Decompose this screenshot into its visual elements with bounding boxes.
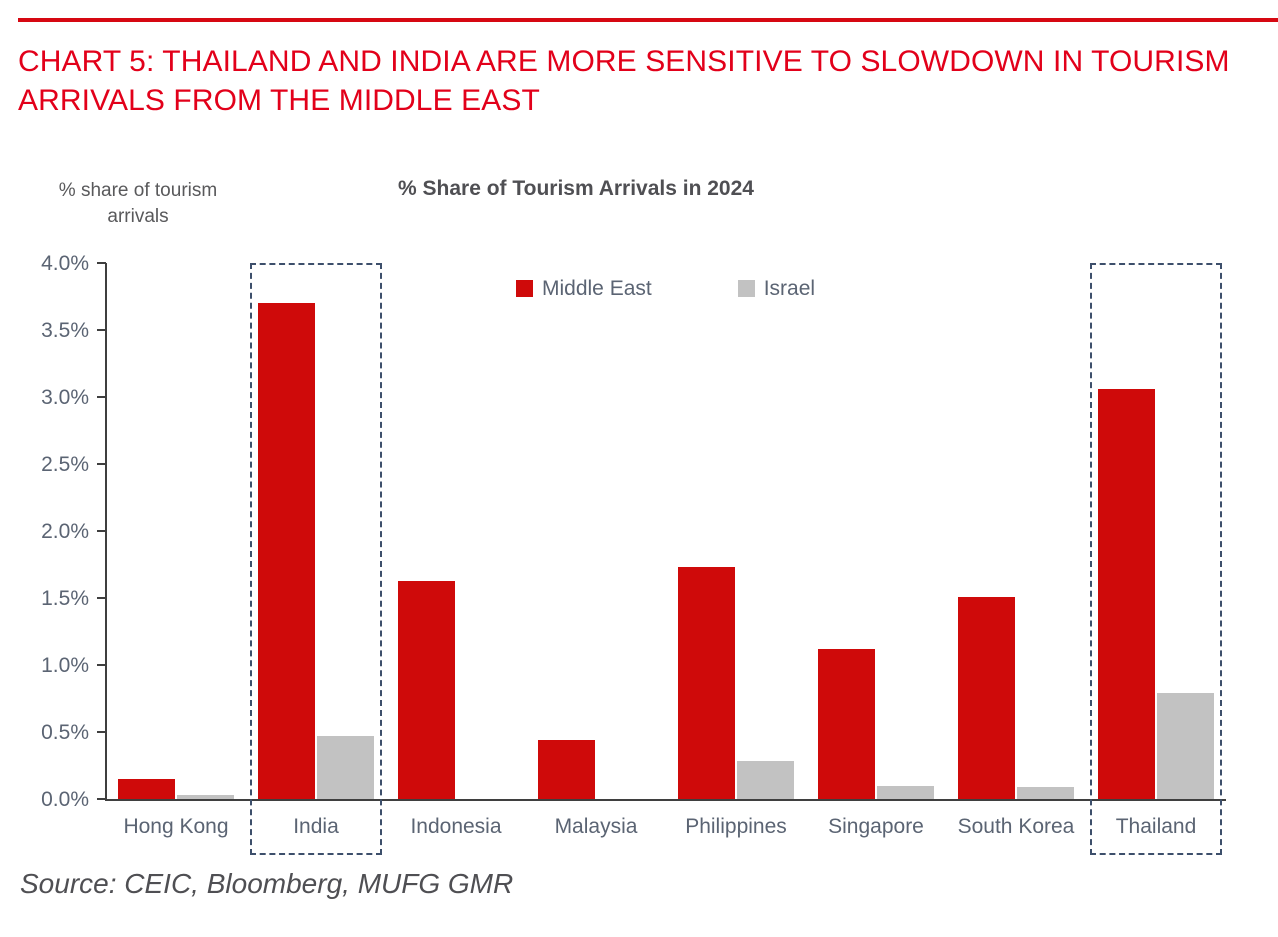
bar-indonesia-middle-east[interactable] (398, 581, 455, 799)
x-axis-label-india: India (246, 815, 386, 839)
y-axis-tick-label: 2.5% (3, 454, 89, 475)
y-axis-tick-label: 1.0% (3, 655, 89, 676)
y-axis-tick-label: 0.0% (3, 789, 89, 810)
x-axis-label-indonesia: Indonesia (386, 815, 526, 839)
chart-title: % Share of Tourism Arrivals in 2024 (398, 177, 754, 201)
chart-page: CHART 5: THAILAND AND INDIA ARE MORE SEN… (0, 0, 1278, 937)
x-axis-line (105, 799, 1226, 801)
y-axis-tick (97, 530, 106, 532)
y-axis-tick-label: 3.0% (3, 387, 89, 408)
y-axis-tick-label: 1.5% (3, 588, 89, 609)
bar-india-middle-east[interactable] (258, 303, 315, 799)
x-axis-label-philippines: Philippines (666, 815, 806, 839)
legend-label-middle-east: Middle East (542, 278, 652, 299)
legend-item-israel[interactable]: Israel (738, 278, 815, 299)
y-axis-tick (97, 597, 106, 599)
legend-swatch-israel (738, 280, 755, 297)
x-axis-label-malaysia: Malaysia (526, 815, 666, 839)
bar-hong-kong-middle-east[interactable] (118, 779, 175, 799)
y-axis-tick (97, 731, 106, 733)
bar-malaysia-middle-east[interactable] (538, 740, 595, 799)
legend-label-israel: Israel (764, 278, 815, 299)
y-axis-tick (97, 463, 106, 465)
y-axis-tick-label: 3.5% (3, 320, 89, 341)
y-axis-line (105, 263, 107, 801)
bar-south-korea-israel[interactable] (1017, 787, 1074, 799)
bar-philippines-middle-east[interactable] (678, 567, 735, 799)
chart-legend: Middle East Israel (516, 278, 815, 299)
y-axis-tick (97, 262, 106, 264)
page-title: CHART 5: THAILAND AND INDIA ARE MORE SEN… (18, 42, 1233, 120)
legend-swatch-middle-east (516, 280, 533, 297)
y-axis-tick-label: 4.0% (3, 253, 89, 274)
bar-thailand-middle-east[interactable] (1098, 389, 1155, 799)
legend-item-middle-east[interactable]: Middle East (516, 278, 652, 299)
y-axis-unit-label: % share of tourism arrivals (30, 178, 246, 230)
bar-south-korea-middle-east[interactable] (958, 597, 1015, 799)
y-axis-tick (97, 664, 106, 666)
bar-hong-kong-israel[interactable] (177, 795, 234, 799)
y-axis-tick (97, 329, 106, 331)
x-axis-label-south-korea: South Korea (946, 815, 1086, 839)
y-axis-tick (97, 798, 106, 800)
header-rule (18, 18, 1278, 22)
x-axis-label-thailand: Thailand (1086, 815, 1226, 839)
y-axis-tick (97, 396, 106, 398)
bar-singapore-israel[interactable] (877, 786, 934, 799)
bar-thailand-israel[interactable] (1157, 693, 1214, 799)
bar-philippines-israel[interactable] (737, 761, 794, 799)
bar-india-israel[interactable] (317, 736, 374, 799)
x-axis-label-singapore: Singapore (806, 815, 946, 839)
y-axis-tick-label: 2.0% (3, 521, 89, 542)
source-note: Source: CEIC, Bloomberg, MUFG GMR (20, 868, 513, 900)
bar-singapore-middle-east[interactable] (818, 649, 875, 799)
x-axis-label-hong-kong: Hong Kong (106, 815, 246, 839)
y-axis-tick-label: 0.5% (3, 722, 89, 743)
